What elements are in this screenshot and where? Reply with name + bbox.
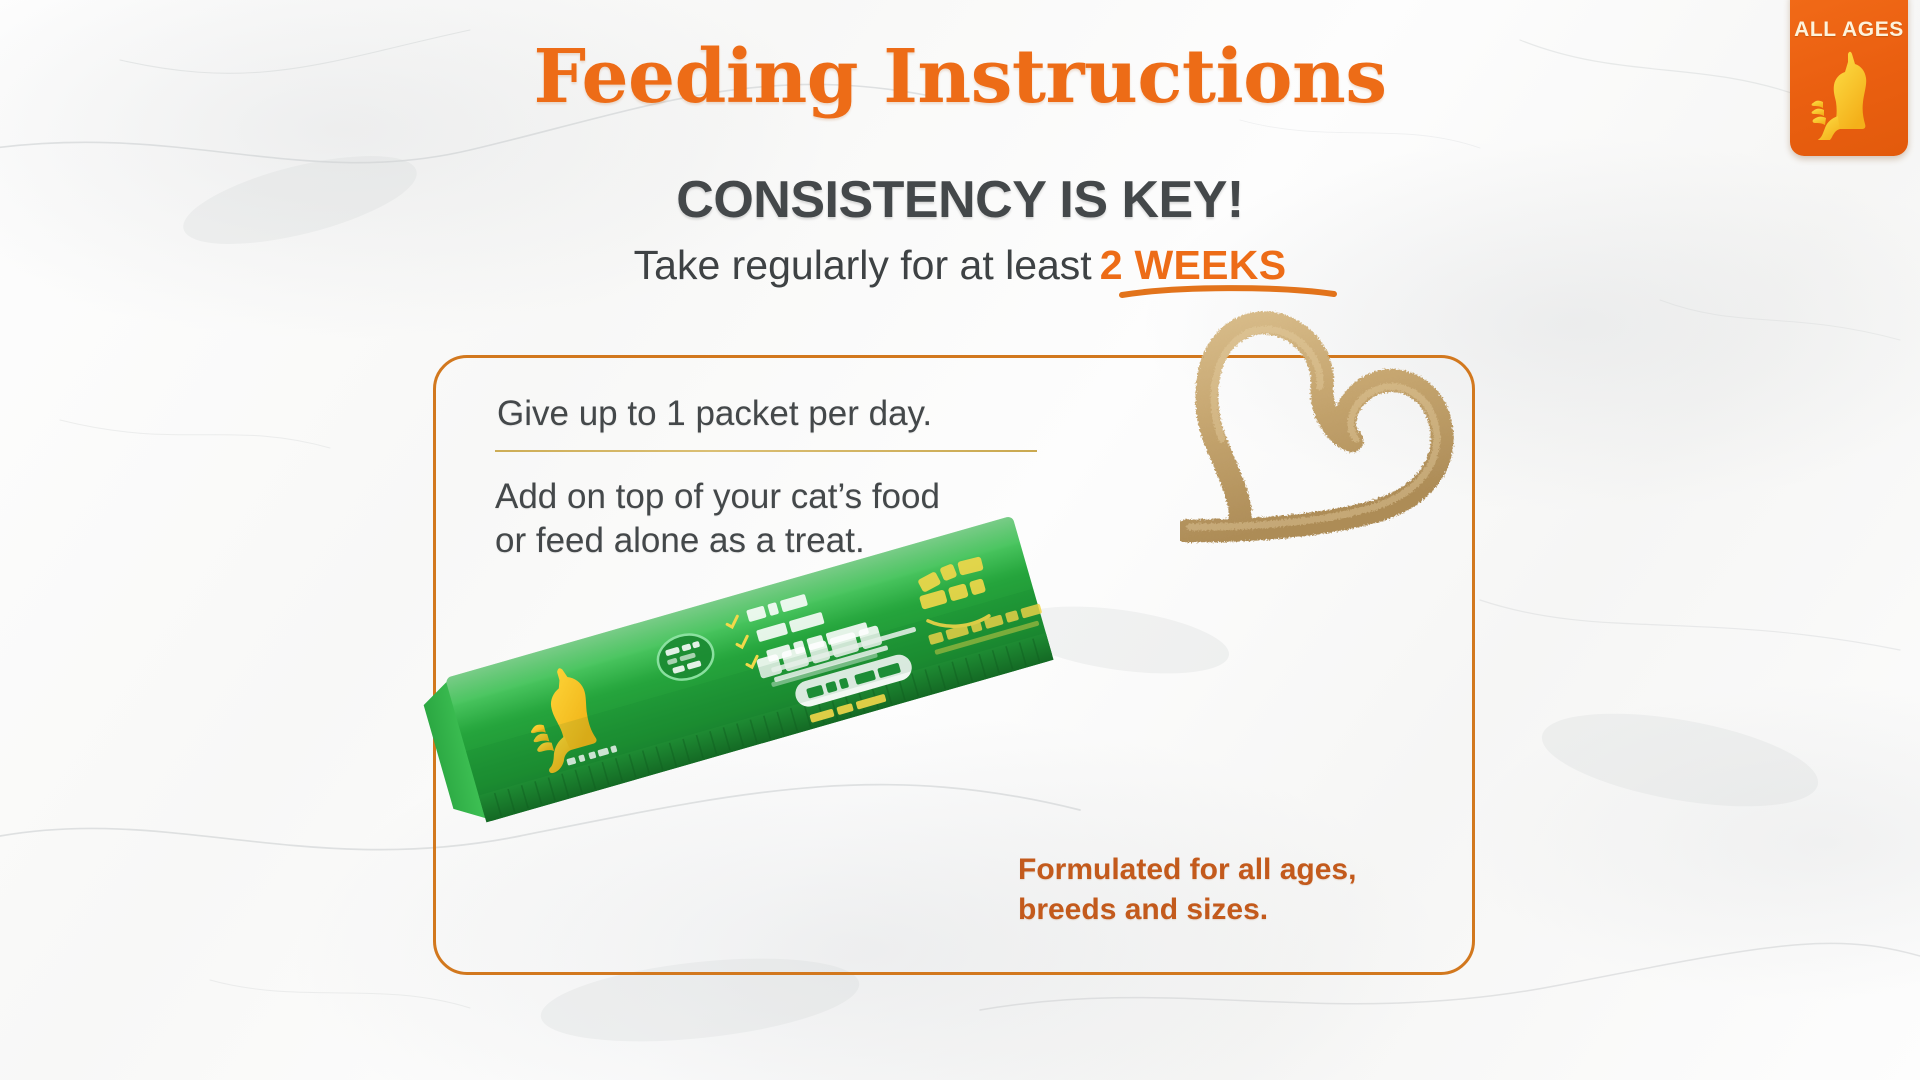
- card-divider: [495, 450, 1037, 452]
- formulated-line-2: breeds and sizes.: [1018, 890, 1356, 930]
- dosage-line: Give up to 1 packet per day.: [497, 394, 932, 434]
- formulated-note: Formulated for all ages, breeds and size…: [1018, 850, 1356, 930]
- subtitle: CONSISTENCY IS KEY!: [0, 170, 1920, 230]
- all-ages-badge: ALL AGES: [1790, 0, 1908, 156]
- poster-canvas: Feeding Instructions CONSISTENCY IS KEY!…: [0, 0, 1920, 1080]
- page-title: Feeding Instructions: [0, 34, 1920, 120]
- formulated-line-1: Formulated for all ages,: [1018, 850, 1356, 890]
- product-packet: [420, 510, 1080, 845]
- all-ages-label: ALL AGES: [1790, 18, 1908, 42]
- sitting-cat-icon: [1804, 48, 1896, 145]
- heart-shaped-paste-icon: [1180, 295, 1500, 560]
- take-regularly-line: Take regularly for at least2 WEEKS: [0, 242, 1920, 289]
- take-regularly-prefix: Take regularly for at least: [634, 242, 1092, 288]
- duration-emphasis: 2 WEEKS: [1100, 242, 1287, 288]
